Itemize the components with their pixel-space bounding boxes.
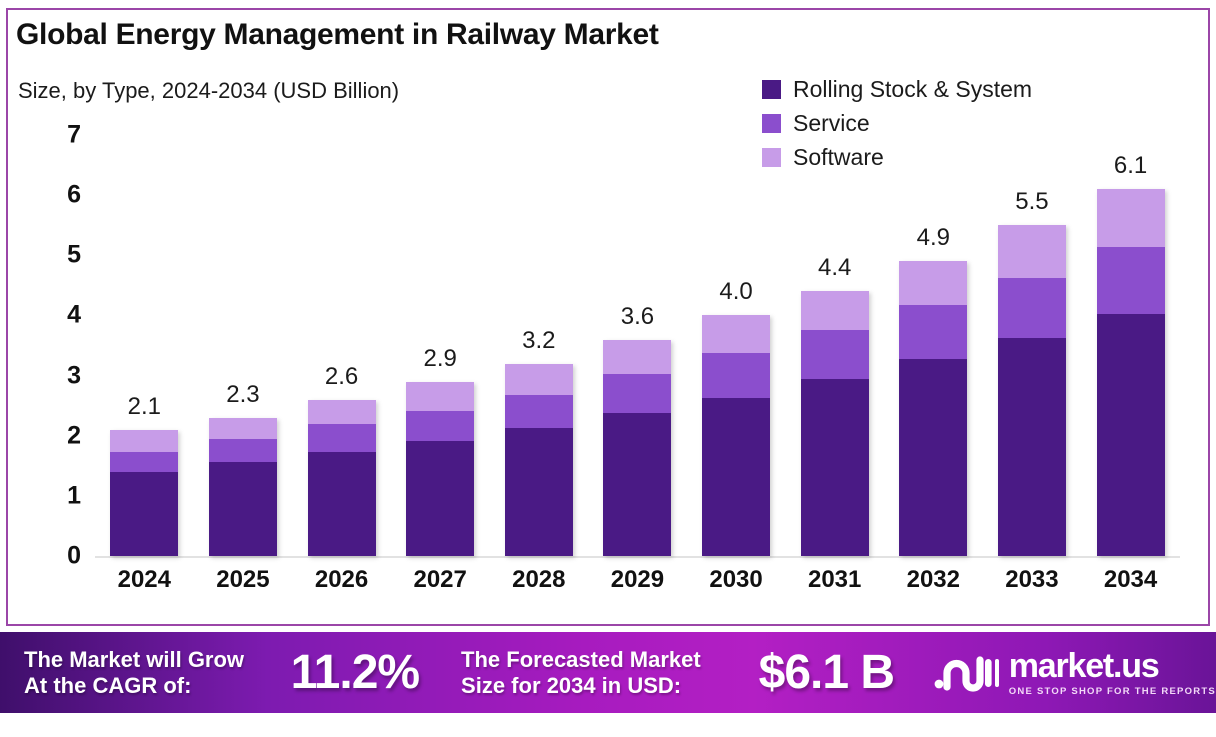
x-axis-labels: 2024202520262027202820292030203120322033…: [95, 566, 1180, 594]
stacked-bar[interactable]: [603, 340, 671, 556]
bar-segment[interactable]: [801, 330, 869, 378]
cagr-label: The Market will Grow At the CAGR of:: [24, 647, 287, 699]
bar-value-label: 2.3: [194, 381, 292, 409]
x-axis-line: [95, 556, 1180, 558]
stacked-bar[interactable]: [406, 382, 474, 556]
logo-name: market.us: [1009, 649, 1216, 683]
bar-segment[interactable]: [801, 291, 869, 330]
bar-value-label: 4.9: [884, 224, 982, 252]
bar-segment[interactable]: [998, 338, 1066, 556]
y-axis-tick-label: 5: [21, 241, 81, 270]
bar-value-label: 3.6: [588, 303, 686, 331]
bar-segment[interactable]: [308, 452, 376, 556]
bar-segment[interactable]: [899, 305, 967, 359]
bar-segment[interactable]: [1097, 189, 1165, 247]
bar-segment[interactable]: [899, 261, 967, 304]
bar-value-label: 5.5: [983, 188, 1081, 216]
cagr-value: 11.2%: [291, 645, 447, 700]
bar-group[interactable]: 3.6: [588, 135, 686, 556]
summary-banner: The Market will Grow At the CAGR of: 11.…: [0, 632, 1216, 713]
bar-segment[interactable]: [209, 462, 277, 556]
stacked-bar[interactable]: [702, 315, 770, 556]
bar-segment[interactable]: [1097, 247, 1165, 314]
market-us-logo-icon: [933, 651, 999, 695]
bar-segment[interactable]: [308, 400, 376, 425]
bar-value-label: 6.1: [1082, 152, 1180, 180]
y-axis-tick-label: 6: [21, 181, 81, 210]
bar-segment[interactable]: [209, 418, 277, 440]
bar-segment[interactable]: [110, 472, 178, 556]
bar-segment[interactable]: [308, 424, 376, 452]
bar-series-container: 2.12.32.62.93.23.64.04.44.95.56.1: [95, 135, 1180, 556]
bar-group[interactable]: 4.9: [884, 135, 982, 556]
stacked-bar[interactable]: [308, 400, 376, 556]
bar-segment[interactable]: [406, 411, 474, 440]
stacked-bar[interactable]: [801, 291, 869, 556]
bar-group[interactable]: 2.6: [293, 135, 391, 556]
bar-segment[interactable]: [603, 413, 671, 556]
forecast-value: $6.1 B: [759, 645, 925, 700]
y-axis-tick-label: 7: [21, 121, 81, 150]
bar-value-label: 2.1: [95, 393, 193, 421]
y-axis-tick-label: 2: [21, 421, 81, 450]
stacked-bar[interactable]: [110, 430, 178, 556]
bar-value-label: 4.4: [786, 254, 884, 282]
bar-segment[interactable]: [998, 278, 1066, 338]
bar-segment[interactable]: [110, 430, 178, 452]
bar-segment[interactable]: [702, 315, 770, 352]
logo-tagline: ONE STOP SHOP FOR THE REPORTS: [1009, 686, 1216, 697]
stacked-bar[interactable]: [209, 418, 277, 556]
bar-group[interactable]: 6.1: [1082, 135, 1180, 556]
bar-segment[interactable]: [505, 428, 573, 556]
x-axis-tick-label: 2031: [786, 566, 884, 594]
bar-group[interactable]: 2.3: [194, 135, 292, 556]
x-axis-tick-label: 2025: [194, 566, 292, 594]
stacked-bar[interactable]: [998, 225, 1066, 556]
bar-segment[interactable]: [406, 441, 474, 556]
stacked-bar[interactable]: [899, 261, 967, 556]
bar-value-label: 2.9: [391, 345, 489, 373]
bar-segment[interactable]: [998, 225, 1066, 278]
x-axis-tick-label: 2030: [687, 566, 785, 594]
bar-value-label: 4.0: [687, 278, 785, 306]
bar-segment[interactable]: [110, 452, 178, 472]
x-axis-tick-label: 2033: [983, 566, 1081, 594]
forecast-label: The Forecasted Market Size for 2034 in U…: [461, 647, 753, 699]
bar-segment[interactable]: [702, 353, 770, 399]
y-axis-tick-label: 0: [21, 542, 81, 571]
bar-segment[interactable]: [603, 374, 671, 413]
chart-infographic: Global Energy Management in Railway Mark…: [0, 0, 1216, 737]
logo-text-block: market.us ONE STOP SHOP FOR THE REPORTS: [1009, 649, 1216, 697]
market-us-logo: market.us ONE STOP SHOP FOR THE REPORTS: [933, 649, 1216, 697]
y-axis-tick-label: 1: [21, 481, 81, 510]
bar-value-label: 3.2: [490, 327, 588, 355]
x-axis-tick-label: 2028: [490, 566, 588, 594]
x-axis-tick-label: 2026: [293, 566, 391, 594]
bar-segment[interactable]: [603, 340, 671, 374]
bar-value-label: 2.6: [293, 363, 391, 391]
x-axis-tick-label: 2032: [884, 566, 982, 594]
bar-segment[interactable]: [505, 364, 573, 395]
x-axis-tick-label: 2034: [1082, 566, 1180, 594]
bar-segment[interactable]: [1097, 314, 1165, 556]
bar-segment[interactable]: [801, 379, 869, 556]
bar-segment[interactable]: [406, 382, 474, 411]
x-axis-tick-label: 2027: [391, 566, 489, 594]
y-axis-tick-label: 4: [21, 301, 81, 330]
stacked-bar[interactable]: [505, 364, 573, 556]
bar-group[interactable]: 4.4: [786, 135, 884, 556]
bar-group[interactable]: 2.1: [95, 135, 193, 556]
bar-segment[interactable]: [209, 439, 277, 461]
bar-segment[interactable]: [899, 359, 967, 556]
bar-group[interactable]: 2.9: [391, 135, 489, 556]
bar-group[interactable]: 3.2: [490, 135, 588, 556]
y-axis-tick-label: 3: [21, 361, 81, 390]
bar-segment[interactable]: [702, 398, 770, 556]
x-axis-tick-label: 2029: [588, 566, 686, 594]
bar-segment[interactable]: [505, 395, 573, 428]
stacked-bar[interactable]: [1097, 189, 1165, 556]
bar-group[interactable]: 5.5: [983, 135, 1081, 556]
x-axis-tick-label: 2024: [95, 566, 193, 594]
bar-group[interactable]: 4.0: [687, 135, 785, 556]
